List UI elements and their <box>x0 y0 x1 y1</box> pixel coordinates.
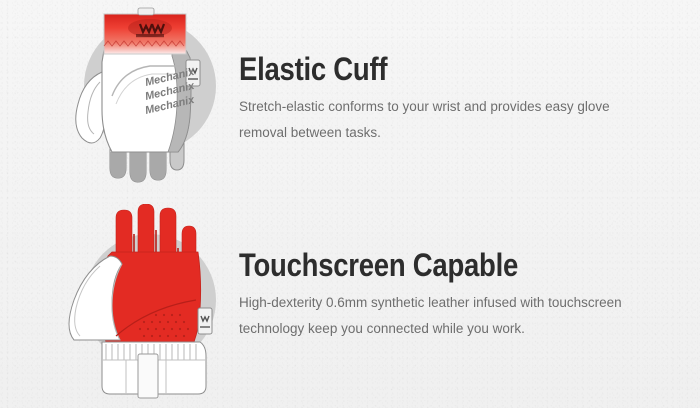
side-pull-tab <box>198 308 212 334</box>
glove-graphic: Mechanix Mechanix Mechanix <box>76 8 200 182</box>
feature-text-elastic-cuff: Elastic Cuff Stretch-elastic conforms to… <box>239 52 700 146</box>
illustration-elastic-cuff: Mechanix Mechanix Mechanix <box>0 0 239 204</box>
feature-text-touchscreen-capable: Touchscreen Capable High-dexterity 0.6mm… <box>239 248 700 342</box>
cuff-hang-tab <box>138 8 154 15</box>
feature-row-touchscreen-capable: Touchscreen Capable High-dexterity 0.6mm… <box>0 204 700 408</box>
illustration-touchscreen-capable <box>0 204 239 408</box>
feature-row-elastic-cuff: Mechanix Mechanix Mechanix Elastic Cuff … <box>0 0 700 204</box>
cuff-closure-strap <box>138 354 158 398</box>
feature-description: Stretch-elastic conforms to your wrist a… <box>239 94 637 146</box>
glove-palm-view-icon <box>0 204 239 408</box>
feature-title: Touchscreen Capable <box>239 248 592 282</box>
glove-cuff <box>104 8 186 54</box>
infographic-page: Mechanix Mechanix Mechanix Elastic Cuff … <box>0 0 700 408</box>
feature-title: Elastic Cuff <box>239 52 592 86</box>
feature-description: High-dexterity 0.6mm synthetic leather i… <box>239 290 637 342</box>
glove-cuff <box>102 342 206 398</box>
glove-back-view-icon: Mechanix Mechanix Mechanix <box>0 0 239 204</box>
glove-graphic <box>69 204 212 398</box>
